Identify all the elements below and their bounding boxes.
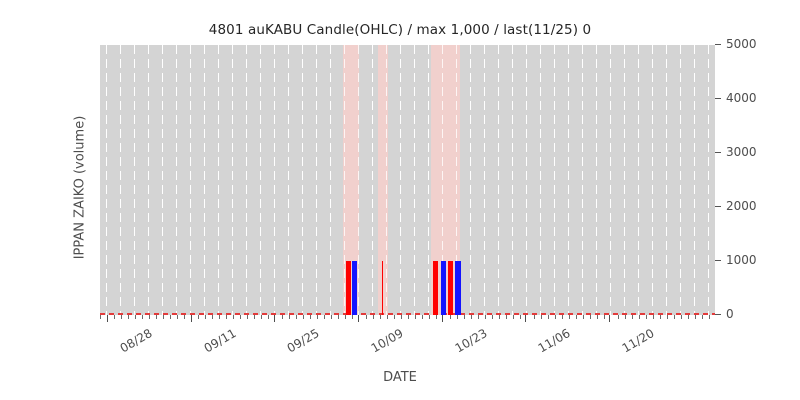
x-axis-minor-tick	[247, 315, 248, 319]
x-axis-minor-tick	[485, 315, 486, 319]
candle-bar	[346, 261, 351, 315]
x-axis-minor-tick	[436, 315, 437, 319]
y-axis-label: IPPAN ZAIKO (volume)	[73, 68, 88, 308]
x-axis-minor-tick	[170, 315, 171, 319]
gridline	[358, 45, 359, 315]
gridline	[484, 45, 485, 315]
x-axis-minor-tick	[478, 315, 479, 319]
x-axis-minor-tick	[303, 315, 304, 319]
plot-area	[100, 45, 715, 315]
gridline	[232, 45, 233, 315]
gridline	[288, 45, 289, 315]
gridline	[246, 45, 247, 315]
gridline	[680, 45, 681, 315]
x-axis-minor-tick	[128, 315, 129, 319]
x-axis-minor-tick	[394, 315, 395, 319]
x-tick-label: 08/28	[118, 326, 155, 355]
x-axis-minor-tick	[548, 315, 549, 319]
x-axis-minor-tick	[219, 315, 220, 319]
gridline	[386, 45, 387, 315]
x-axis-major-tick	[107, 315, 108, 322]
x-axis-minor-tick	[429, 315, 430, 319]
gridline	[204, 45, 205, 315]
gridline	[428, 45, 429, 315]
x-axis-minor-tick	[422, 315, 423, 319]
x-axis-minor-tick	[618, 315, 619, 319]
gridline	[162, 45, 163, 315]
x-axis-minor-tick	[100, 315, 101, 319]
x-axis-minor-tick	[520, 315, 521, 319]
gridline	[218, 45, 219, 315]
y-tick-label: 2000	[726, 199, 757, 213]
gridline	[400, 45, 401, 315]
gridline	[596, 45, 597, 315]
x-axis-minor-tick	[513, 315, 514, 319]
gridline	[106, 45, 107, 315]
x-axis-minor-tick	[625, 315, 626, 319]
x-axis-major-tick	[274, 315, 275, 322]
x-axis-minor-tick	[373, 315, 374, 319]
x-axis-minor-tick	[660, 315, 661, 319]
x-axis-minor-tick	[261, 315, 262, 319]
gridline	[652, 45, 653, 315]
x-axis-major-tick	[442, 315, 443, 322]
x-axis-label: DATE	[0, 370, 800, 385]
x-axis-minor-tick	[121, 315, 122, 319]
x-axis-minor-tick	[345, 315, 346, 319]
x-axis-minor-tick	[604, 315, 605, 319]
x-axis-minor-tick	[702, 315, 703, 319]
gridline	[344, 45, 345, 315]
x-axis-minor-tick	[233, 315, 234, 319]
x-axis-minor-tick	[506, 315, 507, 319]
y-tick-mark	[715, 206, 721, 207]
x-axis-minor-tick	[499, 315, 500, 319]
gridline	[134, 45, 135, 315]
x-tick-label: 10/23	[452, 326, 489, 355]
gridline	[260, 45, 261, 315]
x-axis-minor-tick	[541, 315, 542, 319]
x-tick-label: 11/20	[620, 326, 657, 355]
x-axis-minor-tick	[310, 315, 311, 319]
x-axis-minor-tick	[142, 315, 143, 319]
gridline	[176, 45, 177, 315]
x-axis-minor-tick	[205, 315, 206, 319]
x-axis-minor-tick	[212, 315, 213, 319]
x-axis-minor-tick	[674, 315, 675, 319]
candle-bar	[448, 261, 453, 315]
candle-bar	[352, 261, 357, 315]
y-tick-mark	[715, 44, 721, 45]
x-axis-minor-tick	[184, 315, 185, 319]
gridline	[666, 45, 667, 315]
x-axis-minor-tick	[149, 315, 150, 319]
gridline	[190, 45, 191, 315]
x-axis-minor-tick	[296, 315, 297, 319]
x-axis-minor-tick	[338, 315, 339, 319]
x-axis-minor-tick	[163, 315, 164, 319]
x-axis-minor-tick	[114, 315, 115, 319]
gridline	[316, 45, 317, 315]
x-axis-minor-tick	[254, 315, 255, 319]
x-axis-minor-tick	[457, 315, 458, 319]
x-axis-major-tick	[191, 315, 192, 322]
x-axis-minor-tick	[380, 315, 381, 319]
x-axis-minor-tick	[569, 315, 570, 319]
gridline	[694, 45, 695, 315]
x-axis-minor-tick	[415, 315, 416, 319]
gridline	[414, 45, 415, 315]
y-tick-mark	[715, 260, 721, 261]
x-axis-minor-tick	[695, 315, 696, 319]
x-axis-minor-tick	[331, 315, 332, 319]
x-axis-minor-tick	[317, 315, 318, 319]
y-tick-label: 0	[726, 307, 734, 321]
x-tick-label: 09/11	[201, 326, 238, 355]
gridline	[554, 45, 555, 315]
candle-bar	[382, 261, 383, 315]
gridline	[512, 45, 513, 315]
x-tick-label: 09/25	[285, 326, 322, 355]
gridline	[638, 45, 639, 315]
x-axis-minor-tick	[387, 315, 388, 319]
x-axis-minor-tick	[450, 315, 451, 319]
x-axis-minor-tick	[282, 315, 283, 319]
x-tick-label: 11/06	[536, 326, 573, 355]
x-axis-minor-tick	[226, 315, 227, 319]
x-axis-minor-tick	[709, 315, 710, 319]
x-axis-minor-tick	[688, 315, 689, 319]
y-tick-label: 5000	[726, 37, 757, 51]
x-axis-major-tick	[525, 315, 526, 322]
x-axis-minor-tick	[667, 315, 668, 319]
x-axis-minor-tick	[681, 315, 682, 319]
gridline	[148, 45, 149, 315]
x-axis-minor-tick	[177, 315, 178, 319]
x-axis-minor-tick	[156, 315, 157, 319]
x-axis-minor-tick	[268, 315, 269, 319]
gridline	[708, 45, 709, 315]
gridline	[120, 45, 121, 315]
x-axis-minor-tick	[198, 315, 199, 319]
gridline	[526, 45, 527, 315]
gridline	[624, 45, 625, 315]
x-axis-minor-tick	[289, 315, 290, 319]
gridline	[372, 45, 373, 315]
chart-title: 4801 auKABU Candle(OHLC) / max 1,000 / l…	[0, 22, 800, 38]
x-axis-minor-tick	[555, 315, 556, 319]
x-axis-minor-tick	[597, 315, 598, 319]
chart-figure: 4801 auKABU Candle(OHLC) / max 1,000 / l…	[0, 0, 800, 400]
y-tick-label: 4000	[726, 91, 757, 105]
x-axis-minor-tick	[653, 315, 654, 319]
x-axis-minor-tick	[583, 315, 584, 319]
y-tick-label: 1000	[726, 253, 757, 267]
candle-bar	[441, 261, 446, 315]
gridline	[498, 45, 499, 315]
x-axis-minor-tick	[366, 315, 367, 319]
x-axis-minor-tick	[408, 315, 409, 319]
x-axis-major-tick	[358, 315, 359, 322]
x-axis-minor-tick	[492, 315, 493, 319]
x-axis-minor-tick	[534, 315, 535, 319]
gridline	[582, 45, 583, 315]
y-tick-mark	[715, 98, 721, 99]
gridline	[610, 45, 611, 315]
gridline	[568, 45, 569, 315]
y-tick-label: 3000	[726, 145, 757, 159]
x-axis-major-tick	[609, 315, 610, 322]
x-axis-minor-tick	[590, 315, 591, 319]
x-axis-minor-tick	[632, 315, 633, 319]
x-axis-minor-tick	[324, 315, 325, 319]
y-tick-mark	[715, 152, 721, 153]
gridline	[330, 45, 331, 315]
x-axis-minor-tick	[646, 315, 647, 319]
x-axis-minor-tick	[464, 315, 465, 319]
gridline	[470, 45, 471, 315]
x-axis-minor-tick	[562, 315, 563, 319]
gridline	[274, 45, 275, 315]
y-tick-mark	[715, 314, 721, 315]
x-axis-minor-tick	[401, 315, 402, 319]
x-axis-minor-tick	[135, 315, 136, 319]
candle-bar	[433, 261, 438, 315]
gridline	[302, 45, 303, 315]
x-axis-minor-tick	[471, 315, 472, 319]
x-tick-label: 10/09	[369, 326, 406, 355]
gridline	[540, 45, 541, 315]
x-axis-minor-tick	[240, 315, 241, 319]
x-axis-minor-tick	[639, 315, 640, 319]
x-axis-minor-tick	[576, 315, 577, 319]
x-axis-minor-tick	[352, 315, 353, 319]
candle-bar	[455, 261, 461, 315]
